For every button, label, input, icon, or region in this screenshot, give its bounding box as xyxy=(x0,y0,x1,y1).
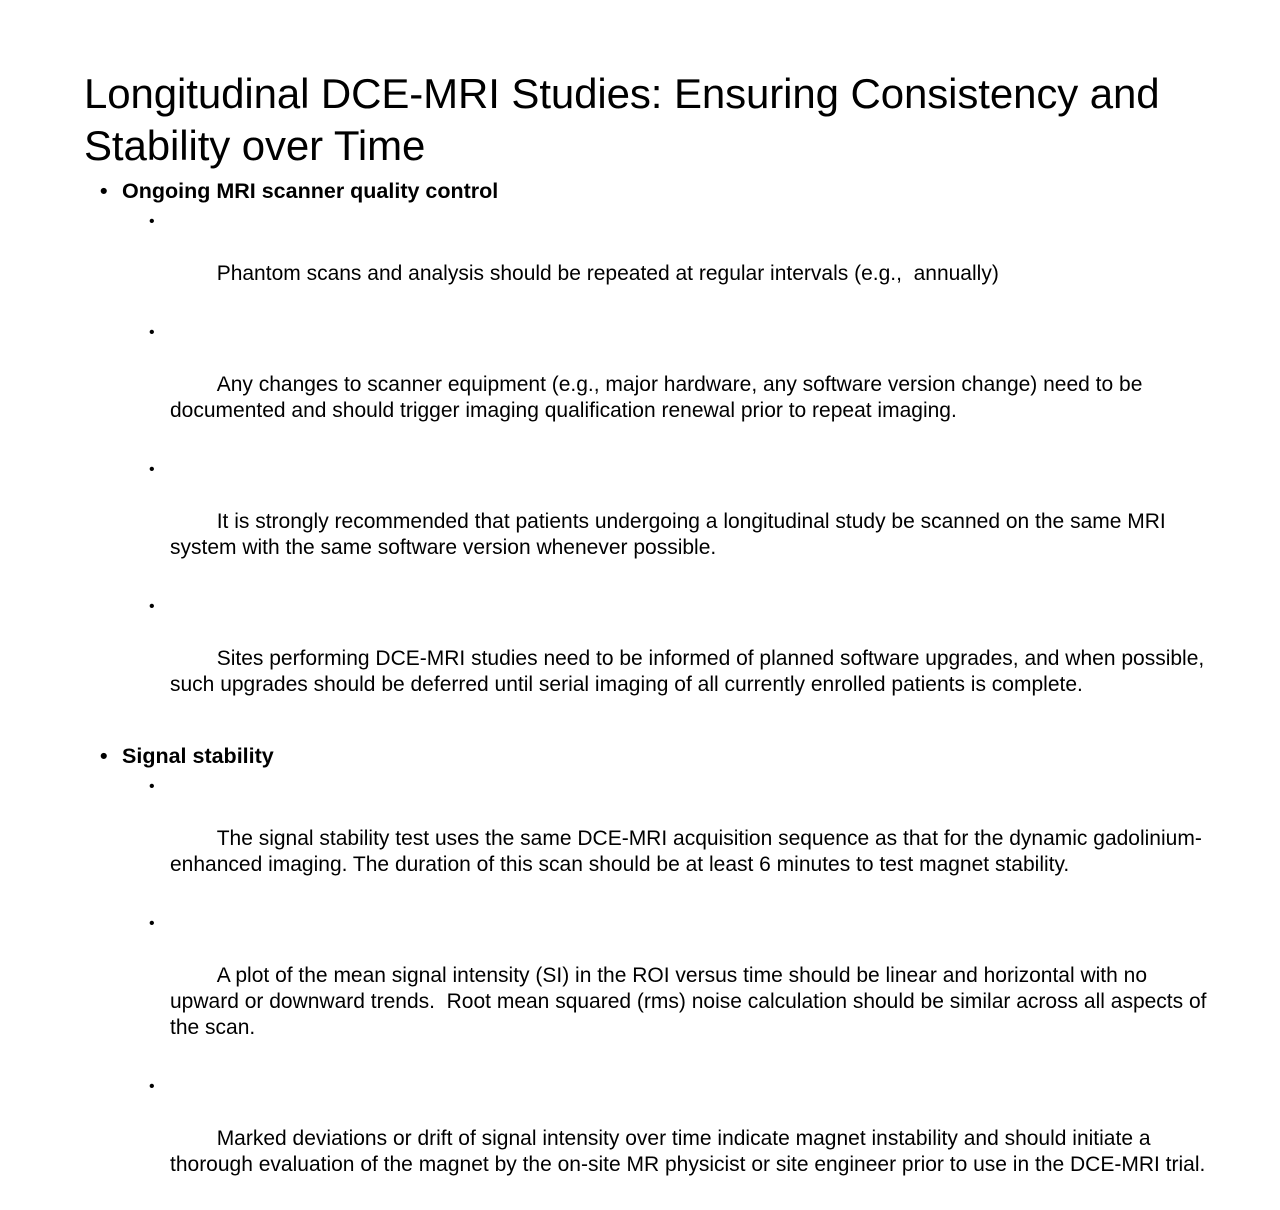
bullet-level2-item: • A plot of the mean signal intensity (S… xyxy=(86,908,1216,1071)
bullet-dot-icon: • xyxy=(149,594,155,620)
bullet-level2-label: Sites performing DCE-MRI studies need to… xyxy=(170,647,1210,696)
bullet-dot-icon: • xyxy=(100,178,108,204)
bullet-level1-label: Ongoing MRI scanner quality control xyxy=(122,179,498,203)
bullet-group-signal-stability: • Signal stability • The signal stabilit… xyxy=(86,743,1216,1208)
bullet-level2-label: It is strongly recommended that patients… xyxy=(170,510,1172,559)
bullet-level2-label: Marked deviations or drift of signal int… xyxy=(170,1127,1205,1176)
bullet-dot-icon: • xyxy=(149,1074,155,1100)
bullet-level2-item: • The signal stability test uses the sam… xyxy=(86,771,1216,908)
bullet-level2-label: The signal stability test uses the same … xyxy=(170,827,1202,876)
bullet-level2-item: • Phantom scans and analysis should be r… xyxy=(86,206,1216,317)
bullet-dot-icon: • xyxy=(149,457,155,483)
bullet-level2-item: • It is strongly recommended that patien… xyxy=(86,454,1216,591)
bullet-level2-label: Phantom scans and analysis should be rep… xyxy=(217,262,999,285)
bullet-level2-item: • Marked deviations or drift of signal i… xyxy=(86,1071,1216,1208)
bullet-level2-label: Any changes to scanner equipment (e.g., … xyxy=(170,373,1148,422)
bullet-level1-ongoing-mri-scanner-quality-control: • Ongoing MRI scanner quality control xyxy=(86,178,1216,204)
bullet-dot-icon: • xyxy=(100,743,108,769)
bullet-dot-icon: • xyxy=(149,911,155,937)
slide-title: Longitudinal DCE-MRI Studies: Ensuring C… xyxy=(84,68,1194,172)
bullet-dot-icon: • xyxy=(149,320,155,346)
bullet-level2-item: • Any changes to scanner equipment (e.g.… xyxy=(86,317,1216,454)
bullet-level2-item: • Sites performing DCE-MRI studies need … xyxy=(86,591,1216,728)
bullet-group-ongoing-mri-scanner-quality-control: • Ongoing MRI scanner quality control • … xyxy=(86,178,1216,728)
bullet-dot-icon: • xyxy=(149,774,155,800)
bullet-level2-label: A plot of the mean signal intensity (SI)… xyxy=(170,964,1212,1039)
bullet-level1-signal-stability: • Signal stability xyxy=(86,743,1216,769)
bullet-level1-label: Signal stability xyxy=(122,744,274,768)
slide-body: • Ongoing MRI scanner quality control • … xyxy=(86,178,1216,1210)
presentation-slide: Longitudinal DCE-MRI Studies: Ensuring C… xyxy=(0,0,1280,720)
bullet-dot-icon: • xyxy=(149,209,155,235)
